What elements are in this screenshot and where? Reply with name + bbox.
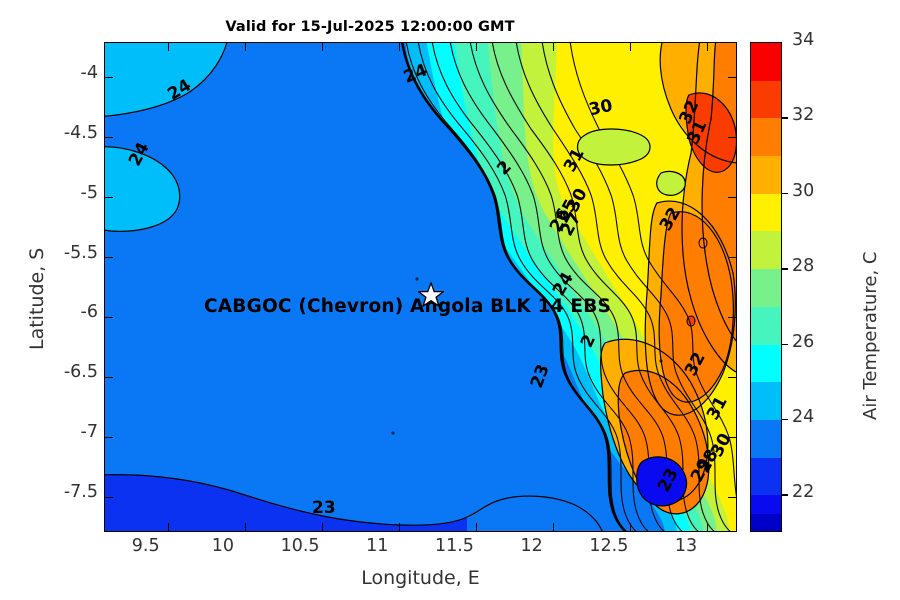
x-axis-title: Longitude, E — [104, 567, 737, 589]
colorbar-band — [751, 382, 781, 420]
x-axis-tick-label: 12 — [497, 536, 567, 556]
x-axis-tick-label: 10.5 — [265, 536, 335, 556]
colorbar-band — [751, 345, 781, 383]
station-star-marker — [418, 282, 444, 308]
colorbar-band — [751, 118, 781, 156]
colorbar-tick-label: 26 — [792, 332, 814, 352]
colorbar-tick-label: 34 — [792, 30, 814, 50]
colorbar-tick-label: 30 — [792, 181, 814, 201]
colorbar-tick — [782, 419, 788, 420]
contour-label: 30 — [587, 98, 614, 120]
colorbar-tick — [782, 117, 788, 118]
colorbar-band — [751, 458, 781, 496]
colorbar-tick — [782, 268, 788, 269]
x-axis-tick-label: 11 — [342, 536, 412, 556]
y-axis-tick-label: -7 — [36, 422, 98, 442]
y-axis-tick-label: -4 — [36, 63, 98, 83]
figure-title: Valid for 15-Jul-2025 12:00:00 GMT — [0, 19, 740, 35]
colorbar-title: Air Temperature, C — [860, 252, 881, 420]
x-axis-tick-label: 12.5 — [574, 536, 644, 556]
colorbar-tick — [782, 193, 788, 194]
colorbar-band — [751, 307, 781, 345]
figure-canvas: Valid for 15-Jul-2025 12:00:00 GMT — [0, 0, 900, 600]
colorbar-tick-label: 22 — [792, 482, 814, 502]
station-label: CABGOC (Chevron) Angola BLK 14 EBS — [204, 296, 611, 317]
colorbar-band — [751, 495, 781, 514]
colorbar-tick — [782, 494, 788, 495]
y-axis-tick-label: -7.5 — [36, 482, 98, 502]
colorbar-band — [751, 420, 781, 458]
colorbar-band — [751, 156, 781, 194]
colorbar — [750, 42, 782, 532]
y-axis-tick-label: -4.5 — [36, 123, 98, 143]
contour-label: 23 — [312, 500, 336, 517]
x-axis-tick-label: 9.5 — [111, 536, 181, 556]
colorbar-band — [751, 43, 781, 81]
colorbar-tick — [782, 344, 788, 345]
x-axis-tick-label: 10 — [188, 536, 258, 556]
colorbar-band — [751, 231, 781, 269]
colorbar-band — [751, 269, 781, 307]
y-axis-title: Latitude, S — [26, 248, 48, 350]
y-axis-tick-label: -5 — [36, 183, 98, 203]
colorbar-band — [751, 194, 781, 232]
colorbar-band — [751, 81, 781, 119]
x-axis-tick-label: 13 — [651, 536, 721, 556]
colorbar-tick-label: 24 — [792, 407, 814, 427]
colorbar-tick-label: 28 — [792, 256, 814, 276]
colorbar-band — [751, 514, 781, 532]
x-axis-tick-label: 11.5 — [419, 536, 489, 556]
y-axis-tick-label: -6.5 — [36, 362, 98, 382]
colorbar-tick-label: 32 — [792, 105, 814, 125]
